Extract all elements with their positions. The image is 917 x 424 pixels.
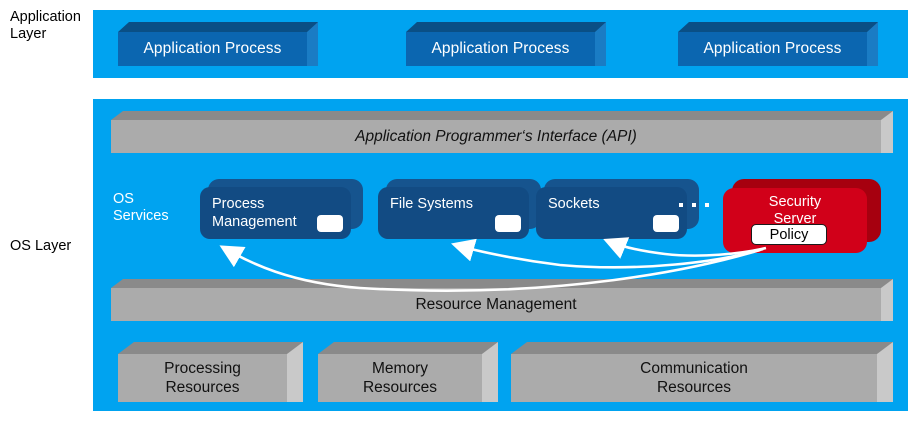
resource-box-memory[interactable]: Memory Resources xyxy=(318,342,498,402)
service-box-process-management[interactable]: Process Management xyxy=(200,179,363,239)
box-top-face xyxy=(406,22,606,32)
policy-hook-icon-file-systems[interactable] xyxy=(495,215,521,232)
application-layer-label: Application Layer xyxy=(10,9,81,43)
services-ellipsis xyxy=(679,203,709,207)
application-process-box-2[interactable]: Application Process xyxy=(406,22,606,66)
box-top-face xyxy=(111,111,893,120)
os-layer-panel: Application Programmer‘s Interface (API)… xyxy=(93,99,908,411)
api-bar[interactable]: Application Programmer‘s Interface (API) xyxy=(111,111,893,153)
service-box-sockets[interactable]: Sockets xyxy=(536,179,699,239)
application-process-box-3[interactable]: Application Process xyxy=(678,22,878,66)
resource-label-communication: Communication Resources xyxy=(511,354,877,402)
security-server-box[interactable]: Security Server Policy xyxy=(723,179,881,253)
application-process-box-1[interactable]: Application Process xyxy=(118,22,318,66)
box-top-face xyxy=(118,342,303,354)
resource-box-communication[interactable]: Communication Resources xyxy=(511,342,893,402)
box-top-face xyxy=(111,279,893,288)
diagram-canvas: Application Layer OS Layer Application P… xyxy=(0,0,917,424)
box-top-face xyxy=(678,22,878,32)
policy-button[interactable]: Policy xyxy=(751,224,827,245)
application-layer-panel: Application Process Application Process … xyxy=(93,10,908,78)
policy-hook-icon-process-management[interactable] xyxy=(317,215,343,232)
resource-box-processing[interactable]: Processing Resources xyxy=(118,342,303,402)
resource-management-bar[interactable]: Resource Management xyxy=(111,279,893,321)
service-box-file-systems[interactable]: File Systems xyxy=(378,179,541,239)
ellipsis-dot xyxy=(705,203,709,207)
ellipsis-dot xyxy=(679,203,683,207)
application-process-label-2: Application Process xyxy=(406,32,595,66)
resource-management-label: Resource Management xyxy=(111,288,881,321)
box-top-face xyxy=(118,22,318,32)
resource-label-processing: Processing Resources xyxy=(118,354,287,402)
ellipsis-dot xyxy=(692,203,696,207)
policy-hook-icon-sockets[interactable] xyxy=(653,215,679,232)
box-top-face xyxy=(511,342,893,354)
resource-label-memory: Memory Resources xyxy=(318,354,482,402)
application-process-label-3: Application Process xyxy=(678,32,867,66)
os-services-caption: OS Services xyxy=(113,191,169,225)
box-top-face xyxy=(318,342,498,354)
api-bar-label: Application Programmer‘s Interface (API) xyxy=(111,120,881,153)
os-layer-label: OS Layer xyxy=(10,238,71,255)
application-process-label-1: Application Process xyxy=(118,32,307,66)
